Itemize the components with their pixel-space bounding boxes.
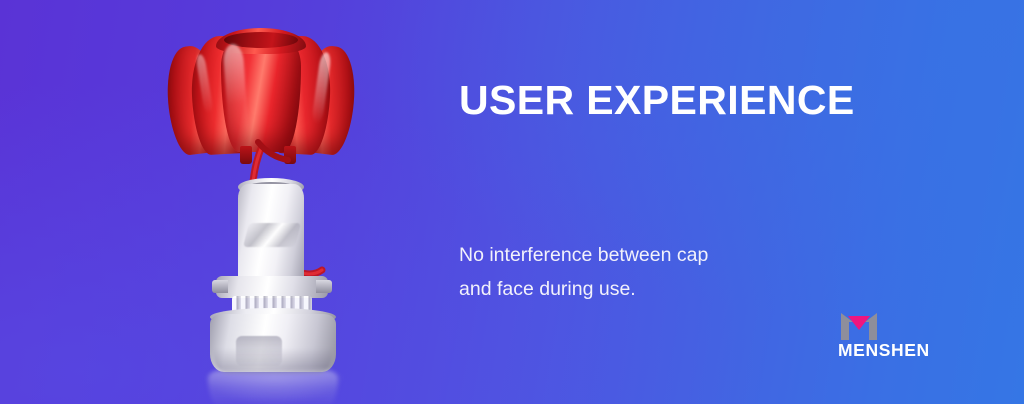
- product-image: [150, 18, 390, 404]
- product-reflection-glow: [194, 374, 354, 404]
- page-title: USER EXPERIENCE: [459, 76, 855, 124]
- subcopy-line-1: No interference between cap: [459, 238, 708, 272]
- subcopy-line-2: and face during use.: [459, 272, 708, 306]
- menshen-m-triangle-icon: [839, 311, 879, 342]
- menshen-logo: MENSHEN: [833, 311, 953, 363]
- user-experience-banner: USER EXPERIENCE No interference between …: [0, 0, 1024, 404]
- closure-flange-notch-left: [212, 280, 228, 293]
- closure-flange-notch-right: [316, 280, 332, 293]
- menshen-wordmark: MENSHEN: [838, 340, 930, 361]
- subcopy-text: No interference between cap and face dur…: [459, 238, 708, 306]
- closure-flange: [216, 276, 328, 298]
- closure-embossed-logo: [243, 223, 301, 247]
